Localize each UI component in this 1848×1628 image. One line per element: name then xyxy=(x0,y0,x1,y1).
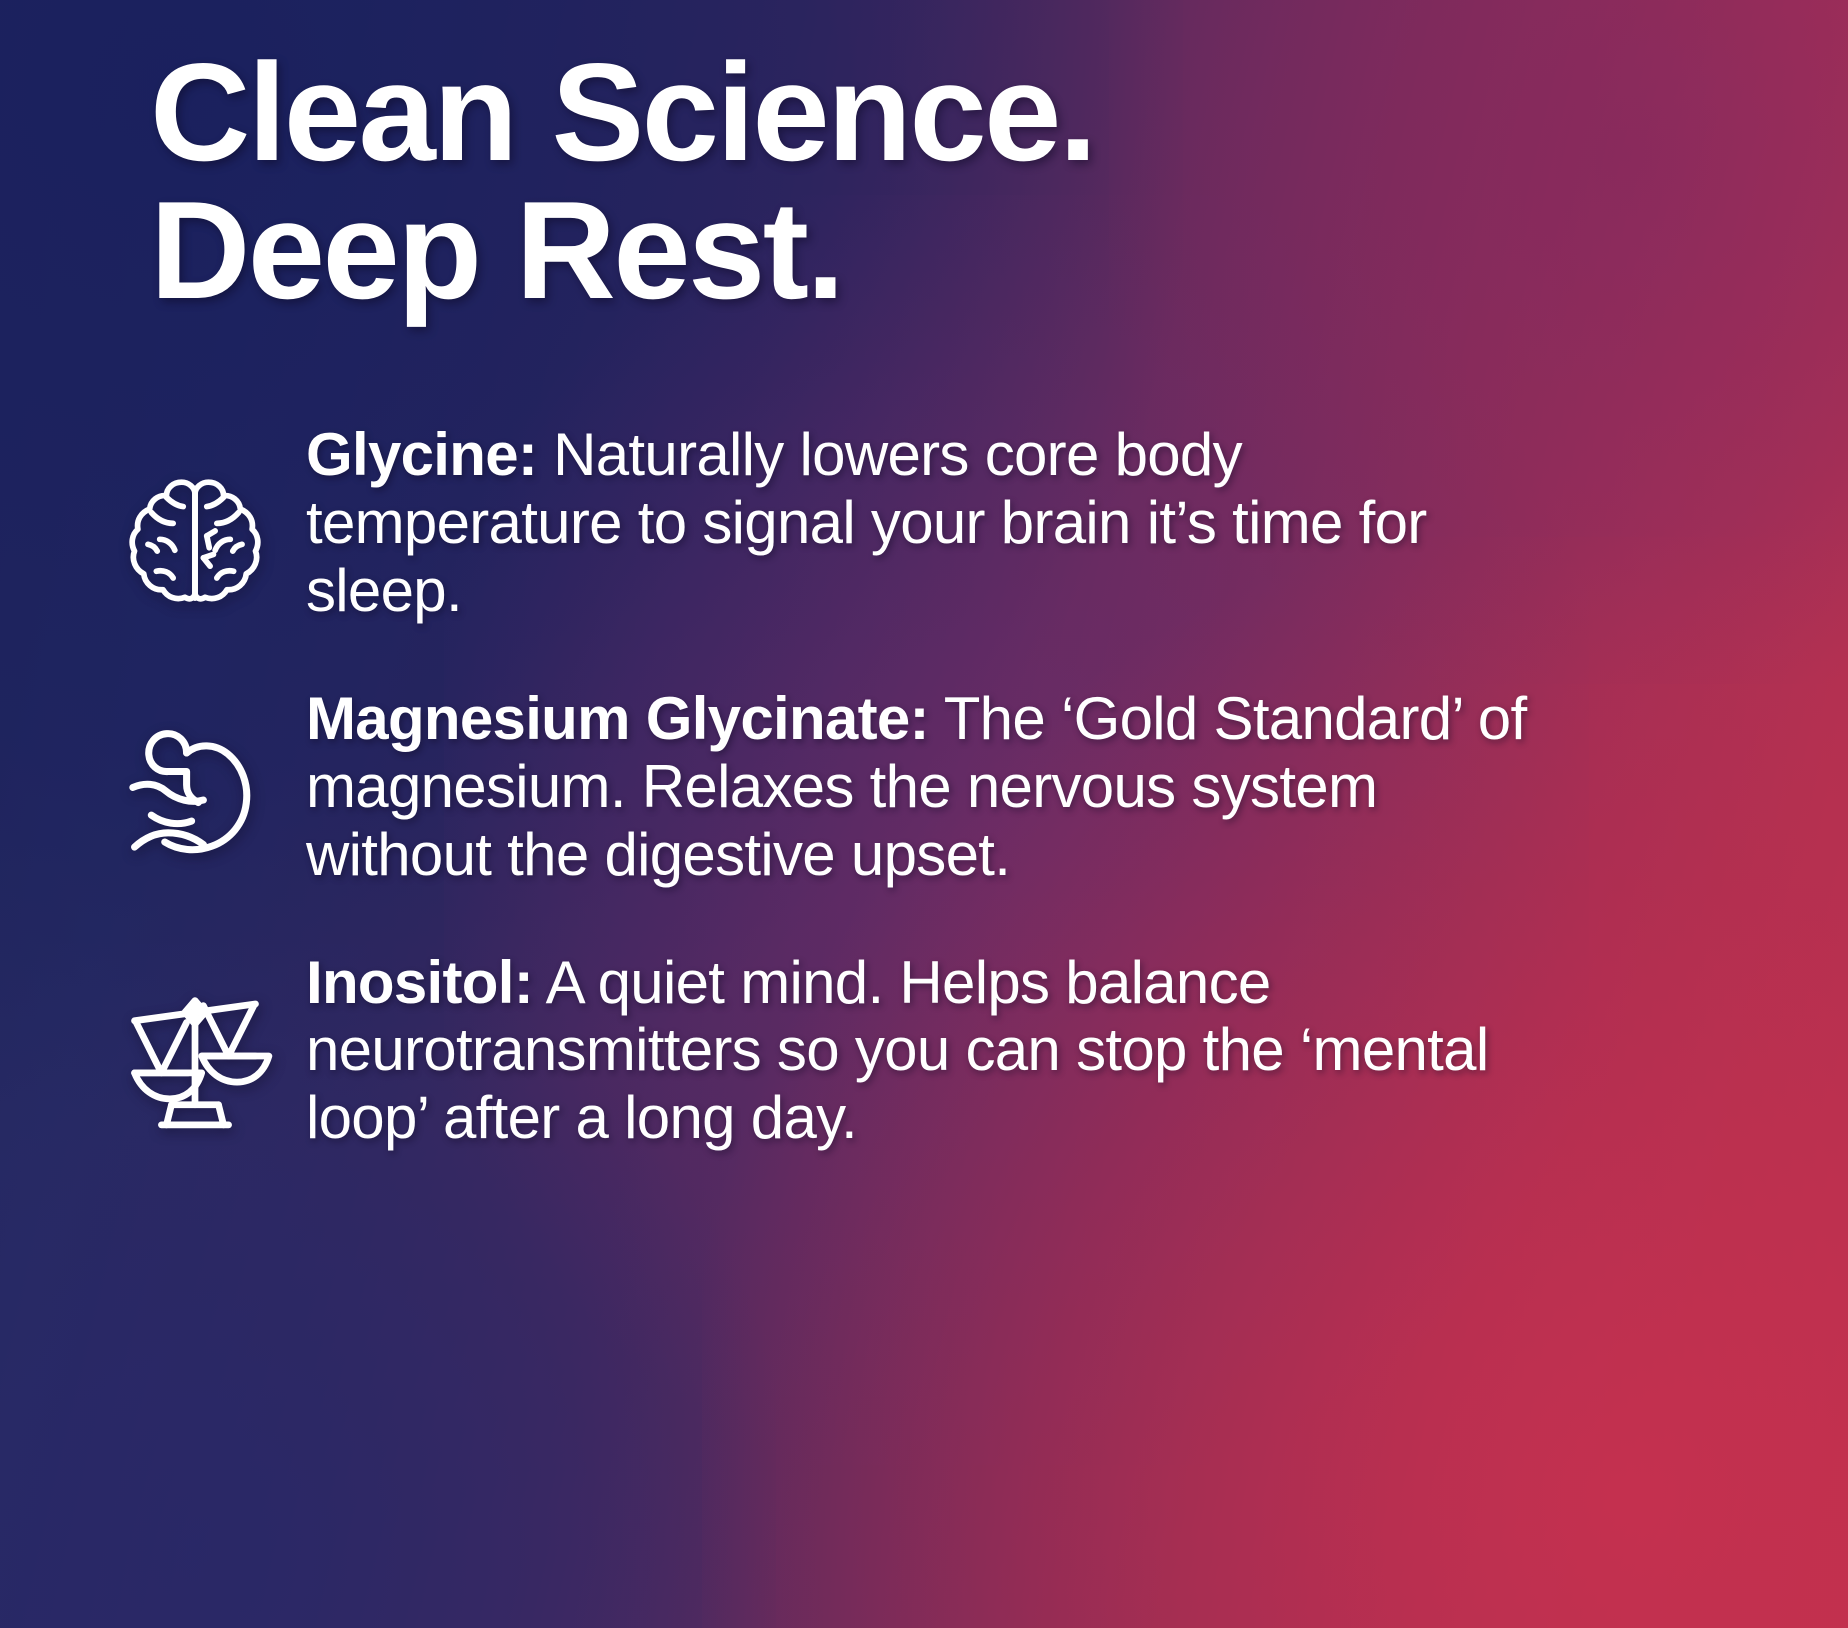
list-item: Magnesium Glycinate: The ‘Gold Standard’… xyxy=(0,679,1848,888)
brain-icon xyxy=(106,457,284,625)
ingredient-name: Magnesium Glycinate: xyxy=(306,685,929,752)
ingredient-description: Glycine: Naturally lowers core body temp… xyxy=(306,415,1596,624)
ingredient-description: Magnesium Glycinate: The ‘Gold Standard’… xyxy=(306,679,1596,888)
poster-canvas: Clean Science. Deep Rest. xyxy=(0,0,1848,1628)
ingredient-name: Inositol: xyxy=(306,949,533,1016)
poster-content: Clean Science. Deep Rest. xyxy=(0,0,1848,1152)
ingredient-description: Inositol: A quiet mind. Helps balance ne… xyxy=(306,943,1596,1152)
list-item: Inositol: A quiet mind. Helps balance ne… xyxy=(0,943,1848,1152)
list-item: Glycine: Naturally lowers core body temp… xyxy=(0,415,1848,625)
headline-line-1: Clean Science. xyxy=(150,44,1788,182)
flexed-bicep-icon xyxy=(106,711,284,879)
balance-scale-icon xyxy=(106,967,284,1135)
headline-line-2: Deep Rest. xyxy=(150,182,1788,320)
ingredient-name: Glycine: xyxy=(306,421,537,488)
ingredient-list: Glycine: Naturally lowers core body temp… xyxy=(0,415,1848,1152)
page-title: Clean Science. Deep Rest. xyxy=(150,44,1788,319)
